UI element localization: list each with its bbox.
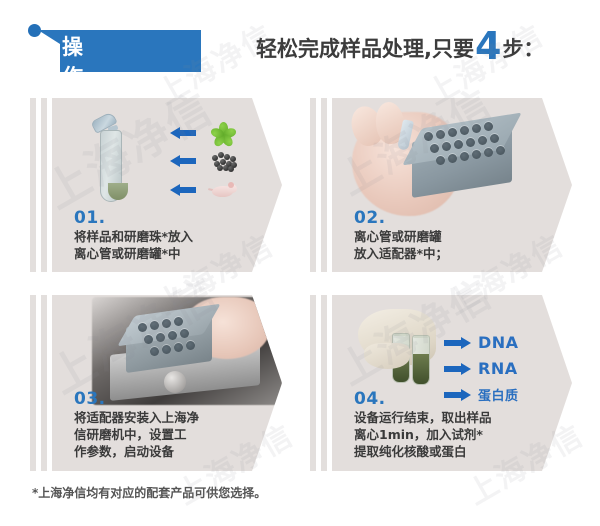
step-description: 将样品和研磨珠*放入 离心管或研磨罐*中 — [74, 228, 274, 262]
footnote: *上海净信均有对应的配套产品可供您选择。 — [32, 484, 266, 501]
arrow-left-icon — [170, 155, 196, 168]
output-row-protein: 蛋白质 — [444, 385, 519, 404]
card-accent-bar-inner — [41, 98, 47, 272]
step1-illustration — [52, 98, 282, 208]
card-body: 03. 将适配器安装入上海净 信研磨机中，设置工 作参数，启动设备 — [52, 295, 282, 471]
card-body: DNA RNA 蛋白质 04. 设备运行结束，取出样品 离心1min，加入试剂*… — [332, 295, 572, 471]
infographic-page: 操作流程 轻松完成样品处理,只要 4 步： — [0, 0, 600, 526]
card-accent-bar-outer — [310, 98, 316, 272]
input-row-plant — [170, 120, 236, 146]
sample-vial-icon — [412, 335, 430, 385]
arrow-right-icon — [444, 337, 471, 349]
headline-step-count: 4 — [475, 31, 501, 61]
arrow-left-icon — [170, 127, 196, 140]
card-body: 01. 将样品和研磨珠*放入 离心管或研磨罐*中 — [52, 98, 282, 272]
step-description: 将适配器安装入上海净 信研磨机中，设置工 作参数，启动设备 — [74, 409, 274, 460]
input-row-animal — [170, 180, 238, 200]
step2-illustration — [346, 104, 536, 220]
output-label: RNA — [478, 359, 518, 378]
step-description: 设备运行结束，取出样品 离心1min，加入试剂* 提取纯化核酸或蛋白 — [354, 409, 564, 460]
step-number: 02. — [354, 208, 386, 228]
card-accent-bar-inner — [321, 98, 327, 272]
card-accent-bar-outer — [30, 295, 36, 471]
step3-illustration — [92, 297, 282, 405]
output-label: DNA — [478, 333, 519, 352]
mouse-icon — [208, 180, 238, 200]
arrow-right-icon — [444, 363, 471, 375]
header: 操作流程 轻松完成样品处理,只要 4 步： — [0, 0, 600, 86]
arrow-left-icon — [170, 184, 196, 197]
step-number: 03. — [74, 389, 106, 409]
headline-prefix: 轻松完成样品处理,只要 — [256, 33, 474, 63]
step-card-04: DNA RNA 蛋白质 04. 设备运行结束，取出样品 离心1min，加入试剂*… — [310, 295, 572, 471]
step-description: 离心管或研磨罐 放入适配器*中； — [354, 228, 554, 262]
beads-icon — [210, 150, 238, 172]
centrifuge-tube-icon — [94, 116, 128, 202]
output-list: DNA RNA 蛋白质 — [444, 333, 519, 411]
step-number: 01. — [74, 208, 106, 228]
output-row-rna: RNA — [444, 359, 519, 378]
step-card-02: 02. 离心管或研磨罐 放入适配器*中； — [310, 98, 572, 272]
card-accent-bar-outer — [30, 98, 36, 272]
step-card-03: 03. 将适配器安装入上海净 信研磨机中，设置工 作参数，启动设备 — [30, 295, 282, 471]
card-body: 02. 离心管或研磨罐 放入适配器*中； — [332, 98, 572, 272]
headline: 轻松完成样品处理,只要 4 步： — [256, 28, 544, 63]
headline-suffix: 步： — [502, 33, 544, 63]
arrow-right-icon — [444, 389, 471, 401]
step-number: 04. — [354, 389, 386, 409]
step-card-01: 01. 将样品和研磨珠*放入 离心管或研磨罐*中 — [30, 98, 282, 272]
output-row-dna: DNA — [444, 333, 519, 352]
card-accent-bar-outer — [310, 295, 316, 471]
card-accent-bar-inner — [41, 295, 47, 471]
input-row-beads — [170, 150, 238, 172]
card-accent-bar-inner — [321, 295, 327, 471]
leaf-icon — [210, 120, 236, 146]
output-label: 蛋白质 — [478, 385, 519, 404]
